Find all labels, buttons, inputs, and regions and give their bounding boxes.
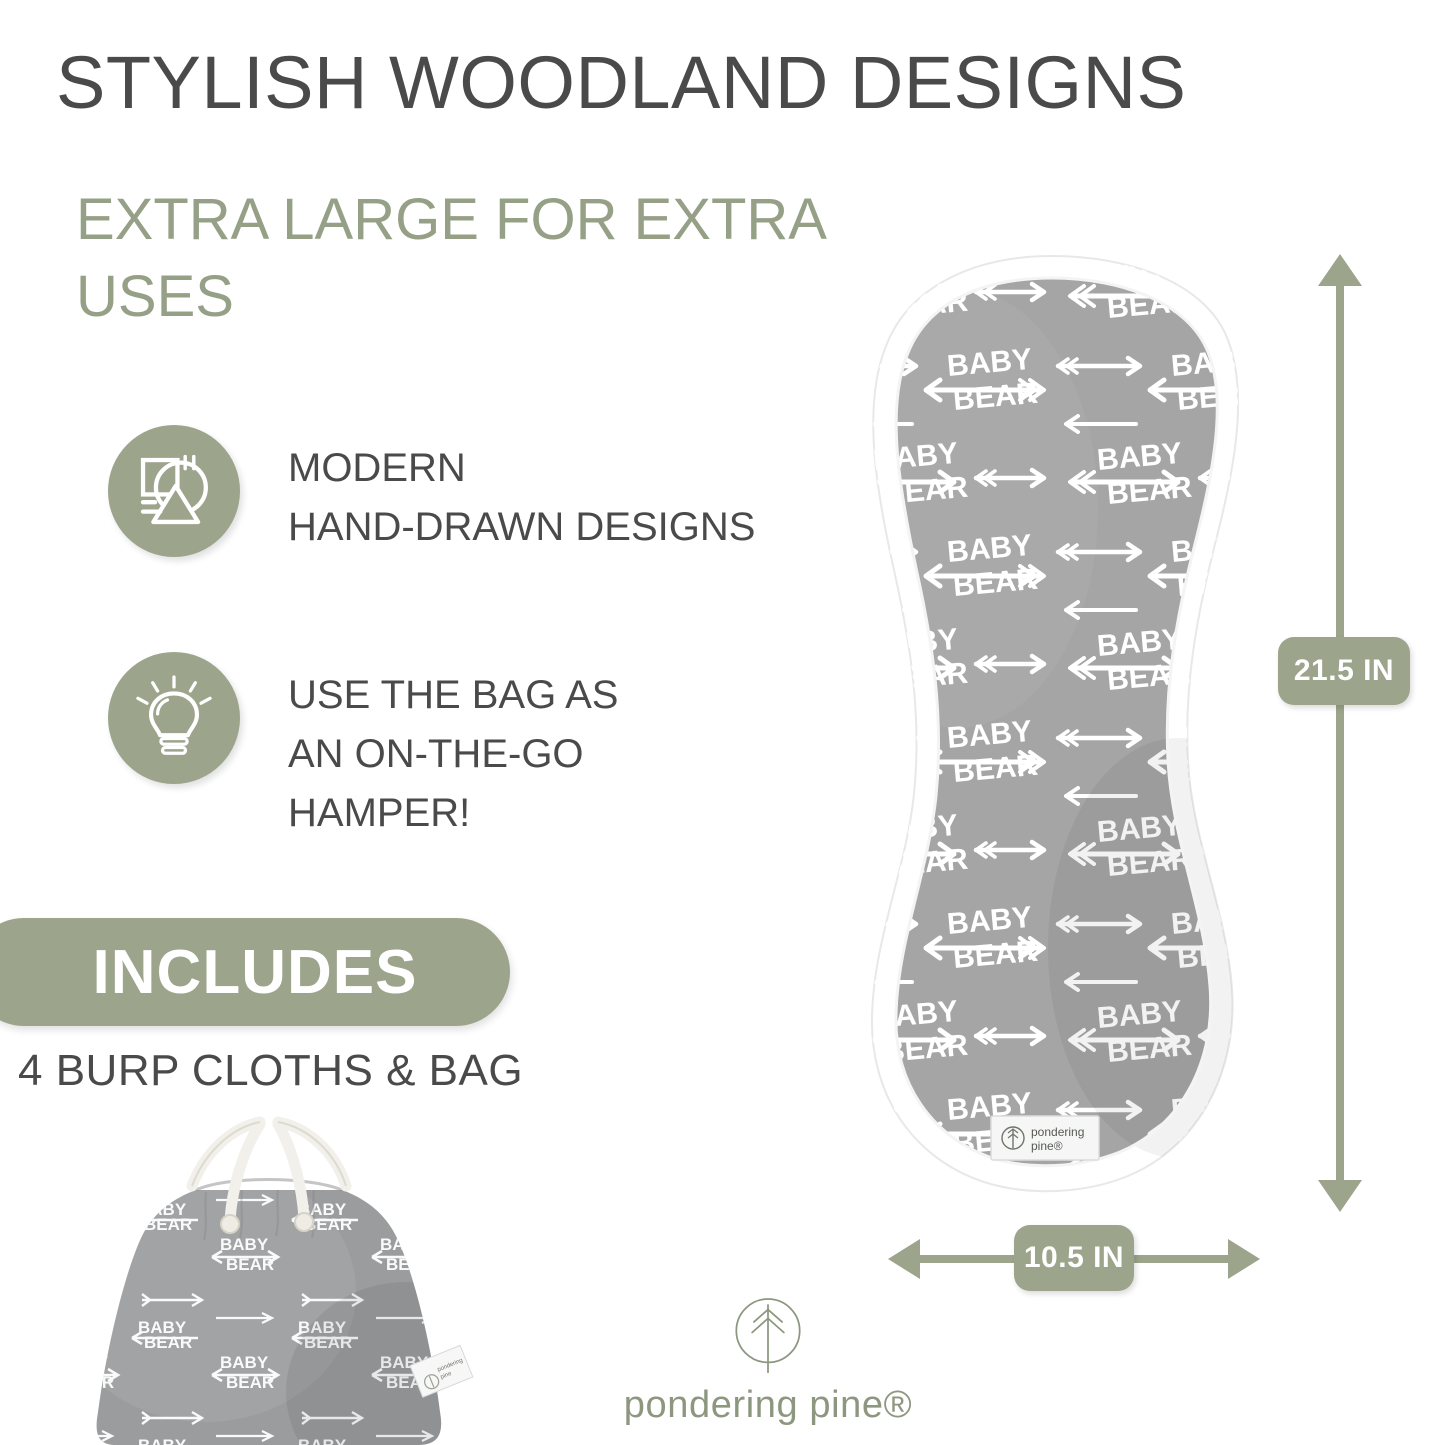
feature-row-designs: MODERN HAND-DRAWN DESIGNS [108, 425, 848, 557]
page-title: STYLISH WOODLAND DESIGNS [56, 46, 1416, 120]
feature-row-hamper: USE THE BAG AS AN ON-THE-GO HAMPER! [108, 652, 808, 844]
tag-brand-line1: pondering [1031, 1125, 1084, 1139]
includes-banner: INCLUDES [0, 918, 510, 1026]
pine-tree-logo-icon [724, 1292, 812, 1380]
brand-name: pondering pine® [624, 1384, 912, 1427]
drawstring-bag-image: BABY BEAR BABY BEAR [46, 1112, 486, 1445]
includes-banner-label: INCLUDES [93, 937, 418, 1008]
product-brand-tag: pondering pine® [991, 1116, 1099, 1160]
feature-label-designs: MODERN HAND-DRAWN DESIGNS [288, 425, 755, 557]
lightbulb-icon [108, 652, 240, 784]
product-infographic: STYLISH WOODLAND DESIGNS EXTRA LARGE FOR… [0, 0, 1445, 1445]
width-dimension-badge: 10.5 IN [1014, 1225, 1134, 1291]
tag-brand-line2: pine® [1031, 1139, 1063, 1153]
brand-footer: pondering pine® [618, 1292, 918, 1427]
feature-label-hamper: USE THE BAG AS AN ON-THE-GO HAMPER! [288, 652, 619, 844]
height-dimension-badge: 21.5 IN [1278, 637, 1410, 705]
shapes-design-icon [108, 425, 240, 557]
height-dimension-line [1304, 252, 1376, 1214]
page-subtitle: EXTRA LARGE FOR EXTRA USES [76, 182, 836, 335]
burp-cloth-image: BABY BEAR BABY BEAR [828, 248, 1276, 1198]
includes-contents-label: 4 BURP CLOTHS & BAG [18, 1046, 523, 1096]
